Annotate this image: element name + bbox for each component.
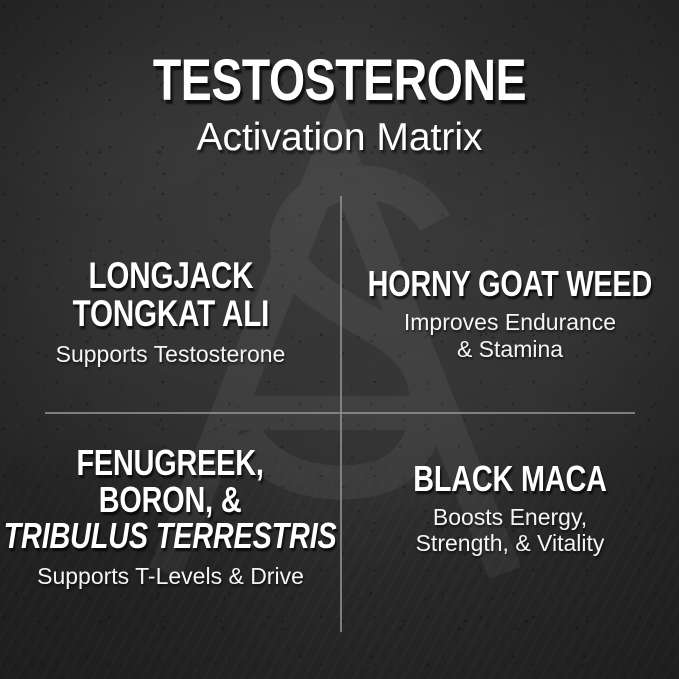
page-title: TESTOSTERONE: [68, 52, 611, 110]
header-block: TESTOSTERONE Activation Matrix: [0, 52, 679, 159]
quadrant-title-line-italic: TRIBULUS TERRESTRIS: [4, 518, 337, 555]
matrix-quadrant-bottom-left: FENUGREEK, BORON, & TRIBULUS TERRESTRIS …: [0, 413, 341, 660]
page-subtitle: Activation Matrix: [0, 118, 679, 159]
quadrant-description-line: Supports T-Levels & Drive: [37, 563, 304, 590]
quadrant-title: BLACK MACA: [413, 461, 607, 498]
quadrant-title-line: HORNY GOAT WEED: [368, 266, 653, 303]
matrix-grid: LONGJACK TONGKAT ALI Supports Testostero…: [0, 190, 679, 660]
quadrant-description: Supports T-Levels & Drive: [37, 563, 304, 590]
quadrant-title-line: BORON, &: [4, 482, 337, 519]
matrix-quadrant-bottom-right: BLACK MACA Boosts Energy, Strength, & Vi…: [341, 413, 679, 660]
quadrant-description-line: & Stamina: [404, 336, 616, 363]
quadrant-title: HORNY GOAT WEED: [368, 266, 653, 303]
matrix-quadrant-top-right: HORNY GOAT WEED Improves Endurance & Sta…: [341, 190, 679, 413]
quadrant-title-line: FENUGREEK,: [4, 445, 337, 482]
infographic-content: TESTOSTERONE Activation Matrix LONGJACK …: [0, 0, 679, 679]
infographic-canvas: TESTOSTERONE Activation Matrix LONGJACK …: [0, 0, 679, 679]
quadrant-description-line: Supports Testosterone: [56, 341, 286, 368]
quadrant-title-line: LONGJACK: [72, 257, 269, 295]
quadrant-title: FENUGREEK, BORON, & TRIBULUS TERRESTRIS: [4, 445, 337, 555]
quadrant-title-line: TONGKAT ALI: [72, 295, 269, 333]
quadrant-description: Supports Testosterone: [56, 341, 286, 368]
quadrant-description-line: Strength, & Vitality: [416, 530, 605, 557]
quadrant-title-line: BLACK MACA: [413, 461, 607, 498]
matrix-quadrant-top-left: LONGJACK TONGKAT ALI Supports Testostero…: [0, 190, 341, 413]
quadrant-title: LONGJACK TONGKAT ALI: [72, 257, 269, 332]
quadrant-description-line: Boosts Energy,: [416, 504, 605, 531]
quadrant-description: Improves Endurance & Stamina: [404, 309, 616, 362]
quadrant-description: Boosts Energy, Strength, & Vitality: [416, 504, 605, 557]
quadrant-description-line: Improves Endurance: [404, 309, 616, 336]
